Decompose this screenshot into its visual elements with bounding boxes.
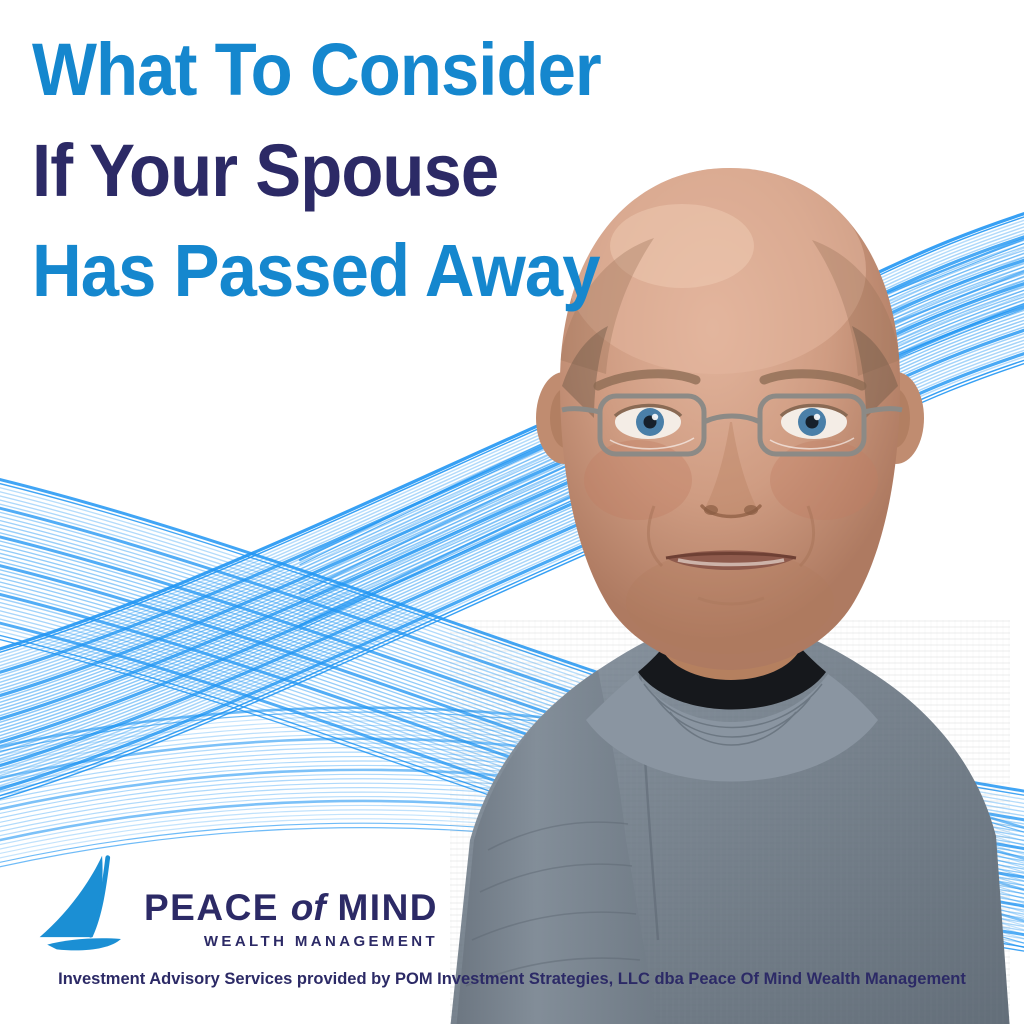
- headline-line-1: What To Consider: [32, 34, 683, 107]
- headline-line-2: If Your Spouse: [32, 135, 683, 208]
- brand-logo: PEACE of MIND WEALTH MANAGEMENT: [34, 852, 438, 956]
- logo-word-mind: MIND: [337, 887, 438, 928]
- headline: What To Consider If Your Spouse Has Pass…: [32, 34, 732, 336]
- logo-word-peace: PEACE: [144, 887, 279, 928]
- sailboat-icon: [34, 852, 138, 956]
- logo-connector: of: [291, 887, 326, 928]
- headline-line-3: Has Passed Away: [32, 235, 683, 308]
- social-media-graphic: What To Consider If Your Spouse Has Pass…: [0, 0, 1024, 1024]
- logo-name: PEACE of MIND: [144, 889, 438, 926]
- logo-tagline: WEALTH MANAGEMENT: [144, 933, 438, 950]
- sweater: [450, 620, 1010, 1024]
- disclaimer-text: Investment Advisory Services provided by…: [0, 966, 1024, 993]
- logo-wordmark: PEACE of MIND WEALTH MANAGEMENT: [144, 889, 438, 956]
